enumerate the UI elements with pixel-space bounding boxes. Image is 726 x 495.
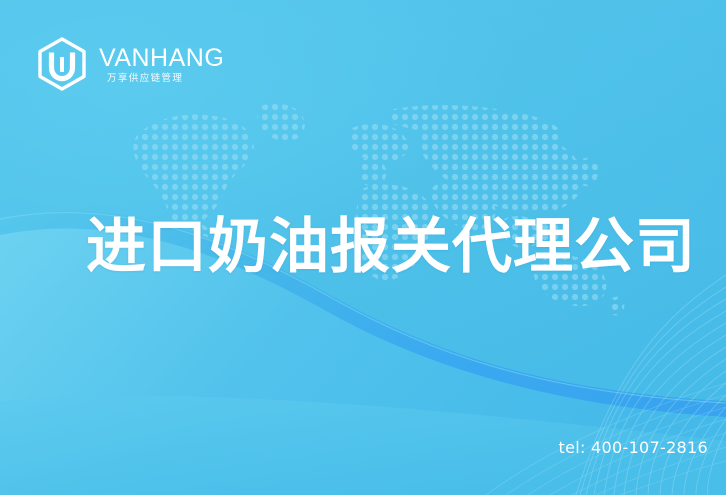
page-title: 进口奶油报关代理公司 — [86, 214, 696, 281]
brand-logo[interactable]: VANHANG 万享供应链管理 — [34, 36, 224, 92]
promo-banner: VANHANG 万享供应链管理 进口奶油报关代理公司 tel: 400-107-… — [0, 0, 726, 495]
vanhang-hexagon-logo-icon — [34, 36, 90, 92]
brand-wordmark: VANHANG — [99, 46, 224, 71]
radiating-line-texture — [366, 275, 726, 495]
brand-logo-text: VANHANG 万享供应链管理 — [99, 44, 224, 84]
brand-subtitle: 万享供应链管理 — [107, 74, 224, 84]
contact-phone[interactable]: tel: 400-107-2816 — [559, 438, 708, 457]
